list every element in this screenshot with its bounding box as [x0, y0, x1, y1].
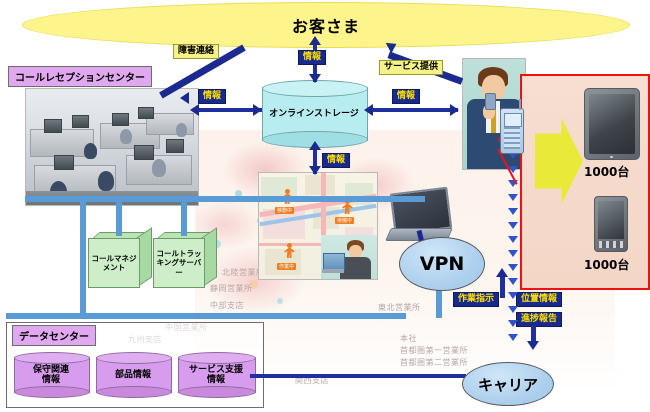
label-progress-report: 進捗報告: [516, 312, 562, 327]
map-label-honsha: 本社: [400, 333, 417, 344]
field-status-moving: 移動中: [275, 207, 294, 214]
db-parts-info-label: 部品情報: [96, 352, 170, 398]
label-info-person: 情報: [392, 89, 420, 104]
db-service-support-info: サービス支援情報: [178, 352, 254, 398]
mobile-handset-icon: [500, 108, 524, 154]
arrow-storage-to-callcenter: [190, 104, 199, 116]
online-storage-cylinder: オンラインストレージ: [262, 80, 366, 148]
label-info-callcenter: 情報: [198, 89, 226, 104]
map-label-shutoken-1: 首都圏第一営業所: [400, 345, 468, 356]
connector-vertical-datacenter: [80, 196, 86, 318]
engineer-photo: [321, 235, 377, 279]
connector-bus-lower: [6, 313, 406, 319]
db-parts-info: 部品情報: [96, 352, 170, 398]
arrow-storage-to-fieldmap: [309, 166, 321, 175]
tablet-device: [584, 88, 640, 160]
connector-db-to-carrier: [250, 374, 466, 378]
label-info-customer: 情報: [298, 50, 326, 65]
map-label-shutoken-2: 首都圏第二営業所: [400, 357, 468, 368]
db-service-support-info-label: サービス支援情報: [178, 352, 254, 398]
server-call-tracking-label: コールトラッキングサーバー: [154, 249, 204, 277]
server-call-management: コールマネジメント: [88, 232, 152, 288]
smart-handset-device: [594, 196, 628, 252]
server-call-tracking: コールトラッキングサーバー: [153, 232, 217, 288]
field-worker-working: [283, 243, 296, 260]
connector-drop-call-management: [116, 200, 122, 236]
arrow-work-instruction-line: [500, 276, 505, 298]
call-reception-center-title: コールレセプションセンター: [8, 66, 152, 87]
field-map-photo: 移動中 待機中 作業中: [258, 172, 378, 280]
arrow-callcenter-to-storage: [253, 104, 262, 116]
vpn-node: VPN: [399, 237, 485, 291]
connector-drop-call-tracking: [181, 200, 187, 236]
arrow-fault-report-head: [180, 92, 189, 104]
online-storage-label: オンラインストレージ: [262, 80, 366, 148]
label-service-provision: サービス提供: [379, 60, 443, 75]
arrow-work-instruction-head: [496, 268, 508, 277]
customer-label: お客さま: [292, 13, 360, 37]
connector-storage-person: [370, 108, 458, 112]
arrow-progress-report-head: [527, 341, 539, 350]
data-center-title: データセンター: [12, 325, 96, 346]
db-maintenance-info: 保守関連情報: [14, 352, 88, 398]
carrier-label: キャリア: [478, 374, 538, 395]
field-status-standby: 待機中: [335, 217, 354, 224]
vpn-label: VPN: [420, 253, 465, 275]
field-status-working: 作業中: [277, 263, 296, 270]
arrow-storage-to-customer: [309, 36, 321, 45]
label-info-fieldmap: 情報: [322, 153, 350, 168]
carrier-node: キャリア: [462, 362, 554, 406]
label-location-info: 位置情報: [516, 292, 562, 307]
diagram-canvas: 東北営業所 本社 首都圏第一営業所 首都圏第二営業所 静岡営業所 中部支店 中国…: [0, 0, 650, 412]
arrow-storage-to-person: [450, 104, 459, 116]
server-call-management-label: コールマネジメント: [89, 254, 139, 273]
label-work-instruction: 作業指示: [453, 292, 499, 307]
customer-node: お客さま: [22, 2, 630, 48]
call-center-photo: [25, 88, 199, 206]
handset-device-count: 1000台: [584, 256, 629, 273]
db-maintenance-info-label: 保守関連情報: [14, 352, 88, 398]
label-fault-report: 障害連絡: [173, 44, 219, 59]
tablet-device-count: 1000台: [584, 163, 629, 180]
map-label-tohoku: 東北営業所: [378, 302, 421, 313]
map-label-chubu: 中部支店: [210, 300, 244, 311]
